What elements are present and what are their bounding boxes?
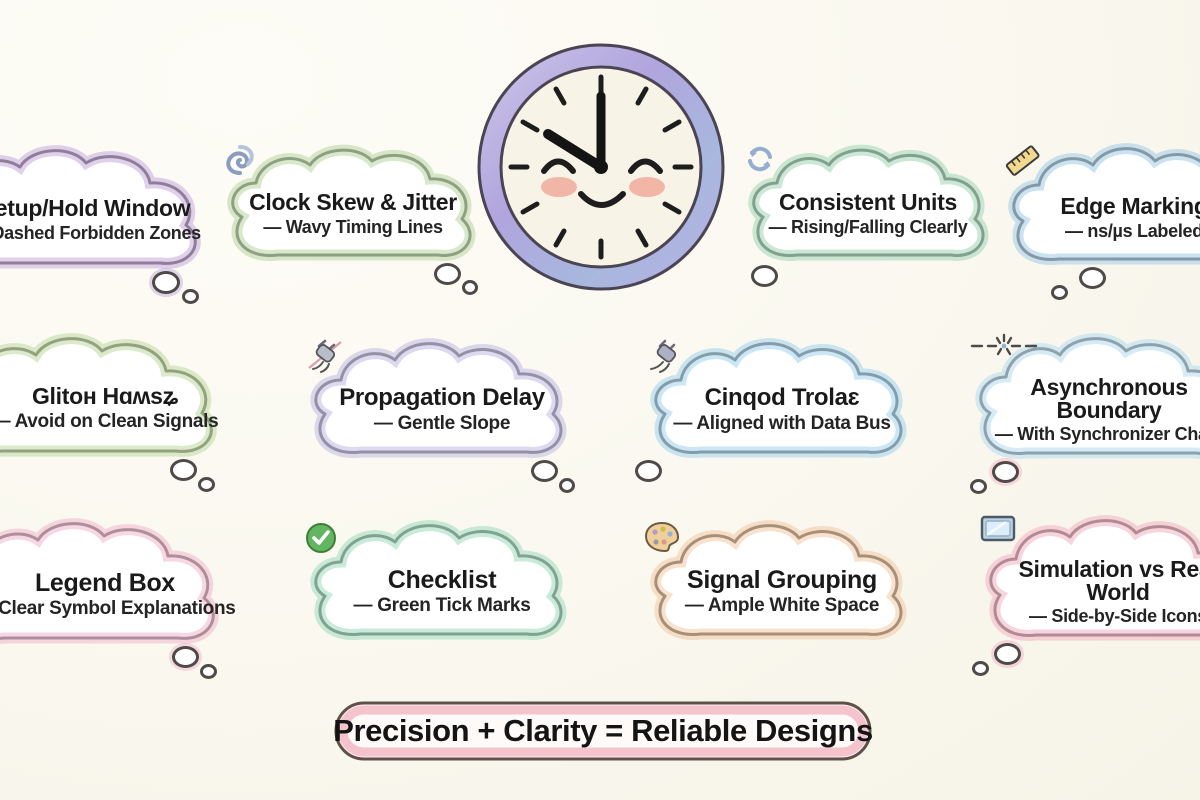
thought-bubble-small (1051, 285, 1068, 300)
thought-bubble-large (531, 460, 558, 482)
cloud-legend-box[interactable]: Legend Box — Clear Symbol Explanations (0, 518, 232, 670)
thought-bubble-large (434, 263, 461, 285)
cloud-setup-hold-window[interactable]: Setup/Hold Window — Dashed Forbidden Zon… (0, 143, 214, 295)
thought-bubble-large (992, 461, 1019, 483)
thought-bubble-large (751, 265, 778, 287)
thought-bubble-small (198, 477, 215, 492)
summary-banner-text: Precision + Clarity = Reliable Designs (333, 700, 873, 762)
thought-bubble-large (1079, 267, 1106, 289)
cloud-signal-tracks[interactable]: Cinqod Trolaɛ — Aligned with Data Bus (643, 338, 921, 480)
cloud-asynchronous-boundary[interactable]: Asynchronous Boundary — With Synchronize… (968, 333, 1200, 485)
thought-bubble-small (200, 664, 217, 679)
cloud-glitch-marks[interactable]: Glitoʜ Ηɑʍsʑ — Avoid on Clean Signals (0, 333, 230, 483)
thought-bubble-large (170, 459, 197, 481)
smiling-wall-clock-icon (470, 36, 732, 298)
thought-bubble-small (972, 661, 989, 676)
cloud-propagation-delay[interactable]: Propagation Delay — Gentle Slope (303, 338, 581, 480)
thought-bubble-small (462, 280, 478, 295)
infographic-canvas: Setup/Hold Window — Dashed Forbidden Zon… (0, 0, 1200, 800)
thought-bubble-small (559, 478, 575, 493)
thought-bubble-large (152, 271, 180, 294)
thought-bubble-small (182, 289, 199, 304)
thought-bubble-large (172, 646, 199, 668)
cloud-checklist[interactable]: Checklist — Green Tick Marks (303, 520, 581, 662)
cloud-simulation-vs-real-world[interactable]: Simulation vs Real World — Side-by-Side … (978, 513, 1200, 669)
cloud-signal-grouping[interactable]: Signal Grouping — Ample White Space (643, 520, 921, 662)
thought-bubble-small (970, 479, 987, 494)
thought-bubble-large (994, 643, 1021, 665)
cloud-edge-marking[interactable]: Edge Marking — ns/µs Labeled (1003, 143, 1200, 291)
summary-banner[interactable]: Precision + Clarity = Reliable Designs (333, 700, 873, 762)
thought-bubble-large (635, 460, 662, 482)
cloud-consistent-units[interactable]: Consistent Units — Rising/Falling Clearl… (743, 143, 993, 283)
cloud-clock-skew-jitter[interactable]: Clock Skew & Jitter — Wavy Timing Lines (222, 143, 484, 283)
